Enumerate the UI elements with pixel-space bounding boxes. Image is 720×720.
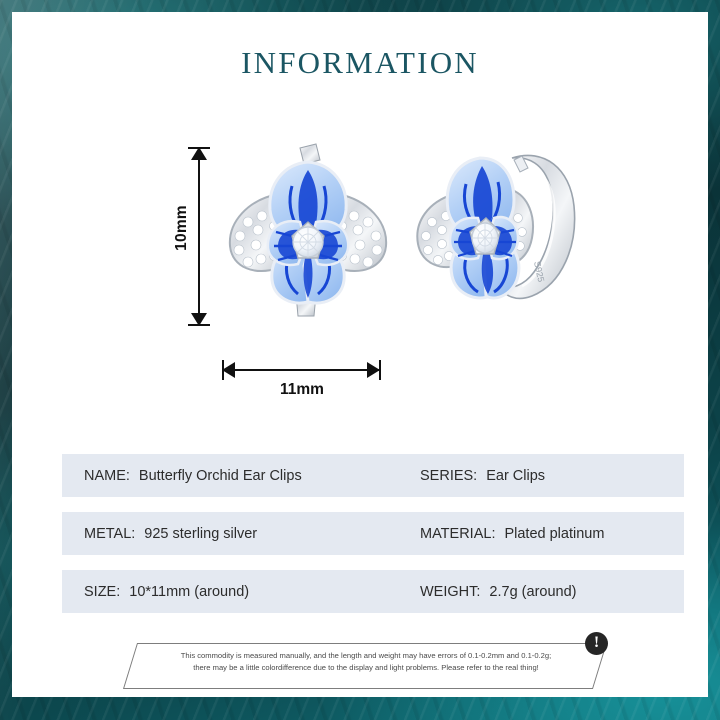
dimension-line-vertical [198, 149, 200, 325]
spec-key: SERIES: [420, 468, 477, 484]
spec-cell-name: NAME: Butterfly Orchid Ear Clips [84, 468, 404, 484]
disclaimer-line-2: there may be a little colordifference du… [156, 662, 576, 674]
table-row: SIZE: 10*11mm (around) WEIGHT: 2.7g (aro… [62, 570, 684, 613]
disclaimer-text: This commodity is measured manually, and… [156, 650, 576, 674]
spec-cell-weight: WEIGHT: 2.7g (around) [420, 584, 576, 600]
product-info-poster: INFORMATION 10mm 11mm [0, 0, 720, 720]
exclamation-icon: ! [585, 632, 608, 655]
spec-key: SIZE: [84, 584, 120, 600]
dimension-cap-right [379, 360, 381, 380]
spec-value: Butterfly Orchid Ear Clips [139, 468, 302, 484]
page-title: INFORMATION [12, 45, 708, 81]
disclaimer-line-1: This commodity is measured manually, and… [156, 650, 576, 662]
table-row: METAL: 925 sterling silver MATERIAL: Pla… [62, 512, 684, 555]
table-row: NAME: Butterfly Orchid Ear Clips SERIES:… [62, 454, 684, 497]
dimension-cap-bottom [188, 324, 210, 326]
width-dimension-annotation: 11mm [212, 355, 402, 403]
spec-value: 2.7g (around) [489, 584, 576, 600]
spec-cell-series: SERIES: Ear Clips [420, 468, 545, 484]
spec-value: 10*11mm (around) [129, 584, 249, 600]
spec-value: Ear Clips [486, 468, 545, 484]
arrow-left-icon [222, 362, 235, 378]
arrow-up-icon [191, 147, 207, 160]
earring-front-view [208, 126, 408, 336]
height-dimension-label: 10mm [173, 188, 191, 268]
dimension-line-horizontal [224, 369, 379, 371]
white-content-card: INFORMATION 10mm 11mm [12, 12, 708, 697]
spec-key: MATERIAL: [420, 526, 495, 542]
spec-cell-material: MATERIAL: Plated platinum [420, 526, 604, 542]
product-spec-table: NAME: Butterfly Orchid Ear Clips SERIES:… [62, 454, 684, 628]
spec-cell-metal: METAL: 925 sterling silver [84, 526, 404, 542]
disclaimer-banner: This commodity is measured manually, and… [130, 643, 600, 689]
height-dimension-annotation: 10mm [172, 137, 212, 337]
spec-cell-size: SIZE: 10*11mm (around) [84, 584, 404, 600]
product-illustration-area: 10mm 11mm [12, 112, 708, 422]
width-dimension-label: 11mm [212, 381, 392, 399]
spec-key: WEIGHT: [420, 584, 480, 600]
spec-value: Plated platinum [504, 526, 604, 542]
spec-value: 925 sterling silver [144, 526, 257, 542]
spec-key: METAL: [84, 526, 135, 542]
spec-key: NAME: [84, 468, 130, 484]
earring-side-view: S925 [394, 124, 594, 334]
